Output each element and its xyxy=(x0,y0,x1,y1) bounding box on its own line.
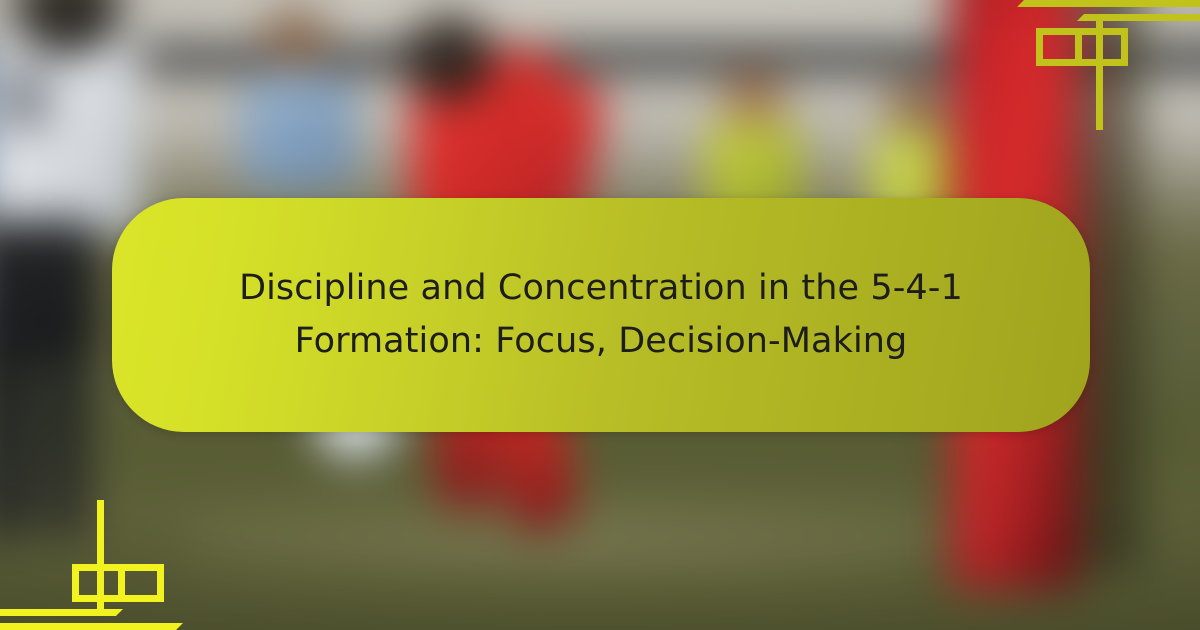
page-title: Discipline and Concentration in the 5-4-… xyxy=(180,262,1021,368)
share-card-canvas: Discipline and Concentration in the 5-4-… xyxy=(0,0,1200,630)
title-card: Discipline and Concentration in the 5-4-… xyxy=(112,198,1090,432)
